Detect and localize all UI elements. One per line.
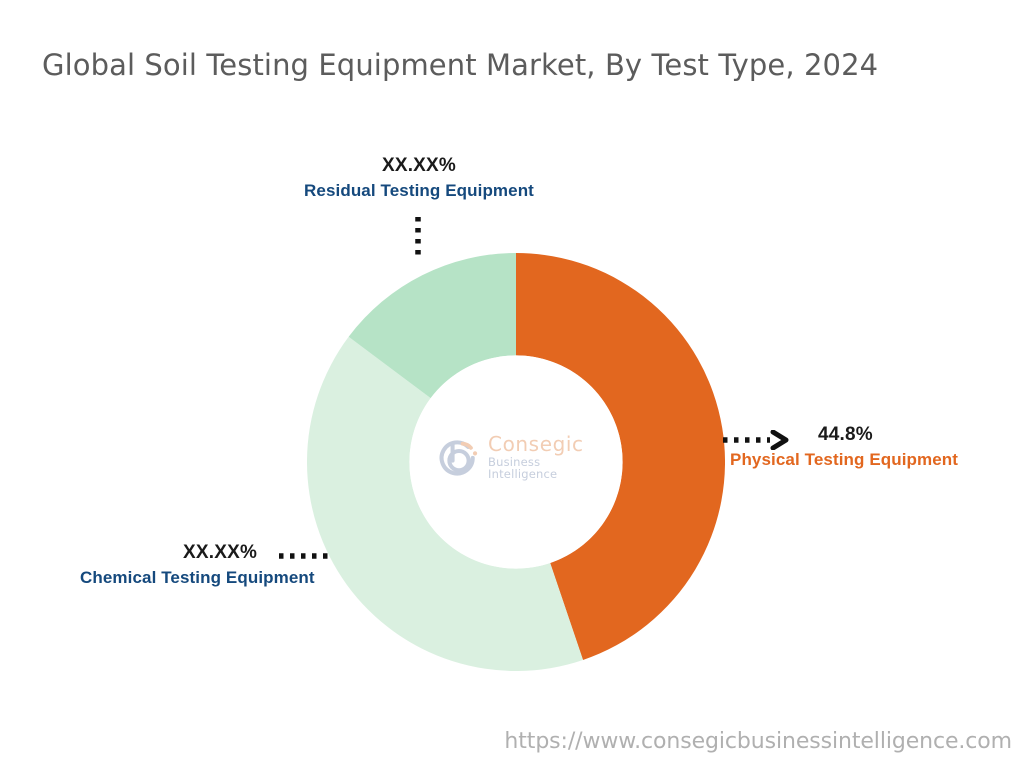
callout-physical-category: Physical Testing Equipment [730, 450, 1020, 470]
callout-physical-percent: 44.8% [818, 424, 1020, 446]
leader-line-residual [414, 216, 422, 260]
source-url[interactable]: https://www.consegicbusinessintelligence… [504, 729, 1012, 754]
callout-residual-percent: XX.XX% [258, 155, 580, 177]
callout-physical: 44.8% Physical Testing Equipment [730, 424, 1020, 470]
callout-chemical-percent: XX.XX% [183, 542, 375, 564]
donut-chart [307, 253, 725, 671]
callout-chemical-category: Chemical Testing Equipment [80, 568, 375, 588]
donut-hole [409, 355, 622, 568]
donut-chart-svg [307, 253, 725, 671]
page-title: Global Soil Testing Equipment Market, By… [42, 48, 1002, 82]
callout-chemical: XX.XX% Chemical Testing Equipment [80, 542, 375, 588]
callout-residual: XX.XX% Residual Testing Equipment [258, 155, 580, 201]
chart-canvas: Global Soil Testing Equipment Market, By… [0, 0, 1024, 768]
callout-residual-category: Residual Testing Equipment [258, 181, 580, 201]
